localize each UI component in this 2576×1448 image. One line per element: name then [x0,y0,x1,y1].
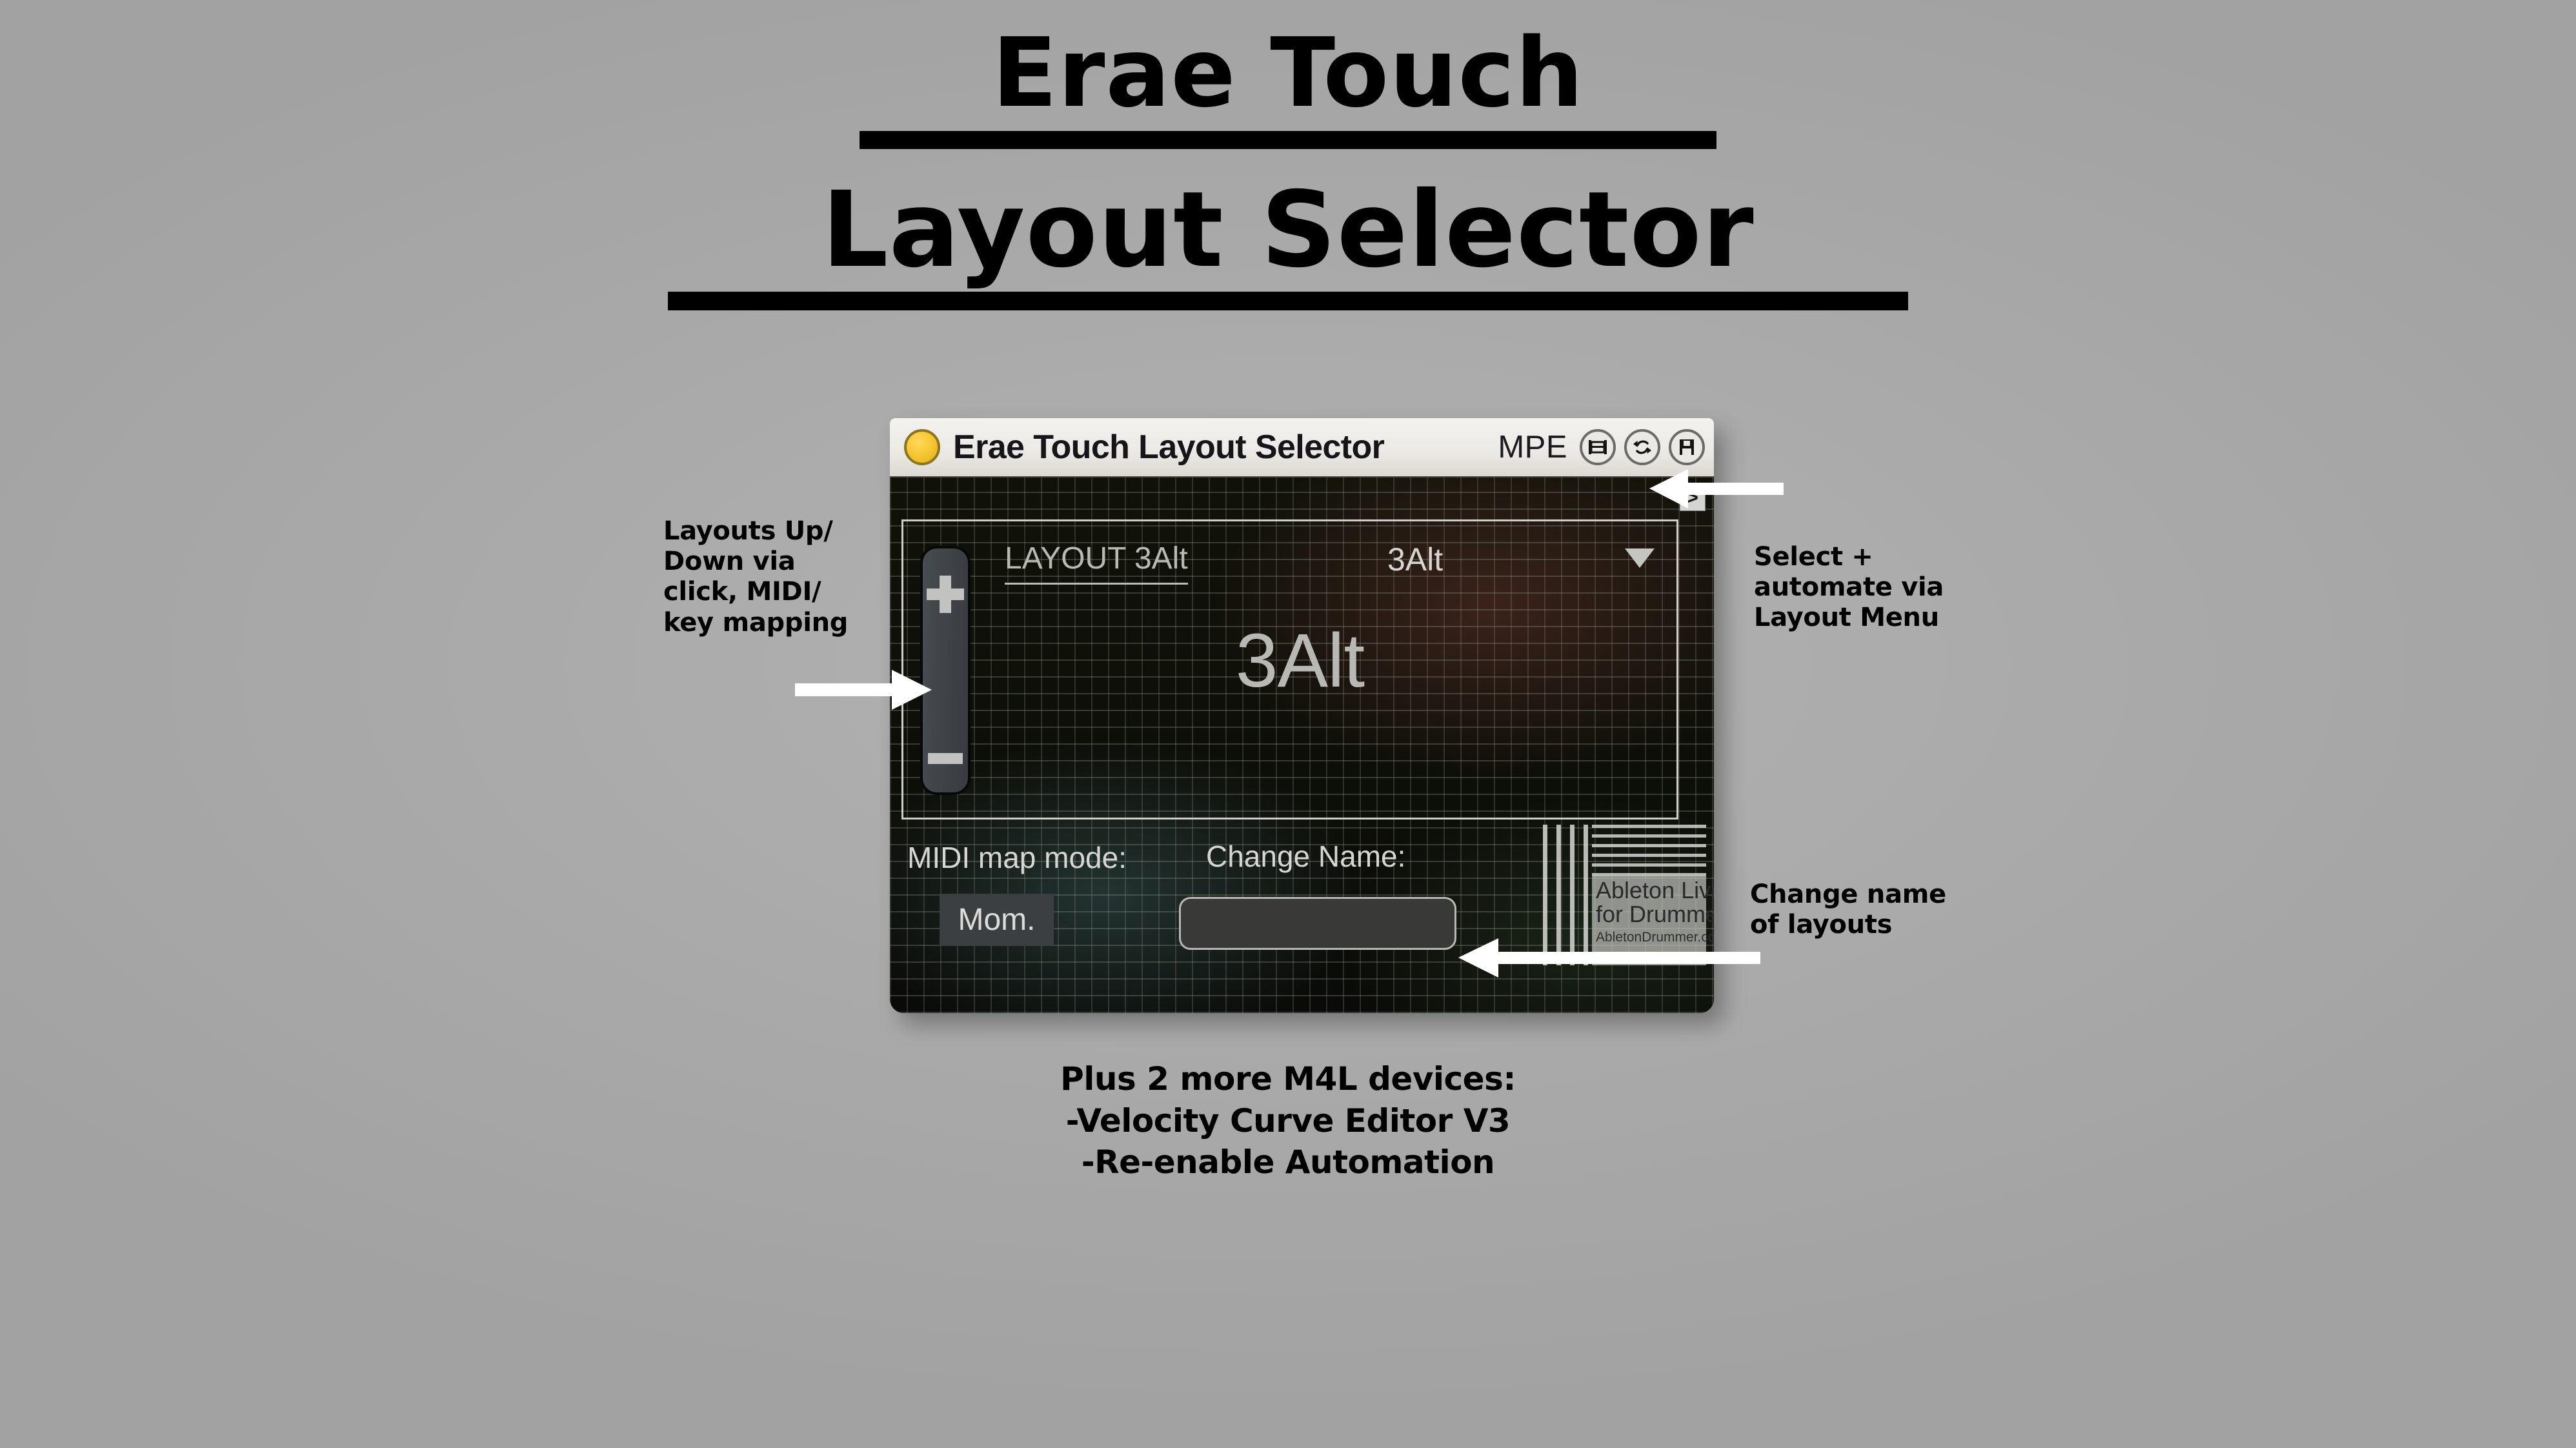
annotation-select-automate: Select + automate via Layout Menu [1754,542,2064,634]
plus-icon[interactable] [927,576,964,613]
title-underline-1 [860,131,1716,149]
power-led-icon[interactable] [904,429,940,465]
page-title: Erae Touch Layout Selector [0,25,2576,310]
midi-map-mode-button[interactable]: Mom. [940,894,1054,946]
layout-param-label: LAYOUT 3Alt [1005,541,1188,585]
brand-bars-icon [1543,825,1588,965]
annotation-extra-devices: Plus 2 more M4L devices: -Velocity Curve… [0,1058,2576,1183]
change-name-label: Change Name: [1206,839,1405,874]
midi-map-mode-label: MIDI map mode: [907,840,1127,875]
device-titlebar: Erae Touch Layout Selector MPE [890,418,1714,478]
expand-toggle-button[interactable]: > [1680,485,1706,511]
brand-stripes-icon [1592,825,1706,876]
brand-url: AbletonDrummer.com [1596,930,1702,945]
device-fold-icon[interactable] [1580,429,1616,465]
brand-logo: Ableton Live for Drummer AbletonDrummer.… [1543,825,1706,965]
page-background: Erae Touch Layout Selector Erae Touch La… [0,0,2576,1448]
title-line-1: Erae Touch [0,25,2576,128]
layout-name-display: 3Alt [1005,617,1658,705]
brand-text: Ableton Live for Drummer AbletonDrummer.… [1592,876,1706,965]
title-underline-2 [668,292,1908,310]
layout-panel: LAYOUT 3Alt 3Alt 3Alt [901,519,1678,820]
save-disk-icon[interactable] [1669,429,1705,465]
annotation-layouts-up-down: Layouts Up/ Down via click, MIDI/ key ma… [663,516,921,638]
layout-menu-row: LAYOUT 3Alt 3Alt [1005,541,1658,590]
device-title: Erae Touch Layout Selector [953,428,1384,467]
annotation-change-name: Change name of layouts [1750,880,2060,940]
m4l-device-window: Erae Touch Layout Selector MPE [890,418,1714,1013]
layout-step-rocker[interactable] [920,546,971,795]
change-name-input[interactable] [1179,897,1456,950]
mpe-label: MPE [1498,429,1567,465]
chevron-down-icon[interactable] [1625,548,1655,568]
brand-line-1: Ableton Live [1596,879,1702,903]
device-body: > LAYOUT 3Alt 3Alt 3Alt MIDI map mode: M… [890,478,1714,1013]
titlebar-controls: MPE [1498,429,1705,465]
loop-arrows-icon[interactable] [1624,429,1660,465]
minus-icon[interactable] [928,753,963,764]
title-line-2: Layout Selector [0,177,2576,290]
brand-line-2: for Drummer [1596,903,1702,927]
layout-menu-value[interactable]: 3Alt [1387,541,1443,578]
